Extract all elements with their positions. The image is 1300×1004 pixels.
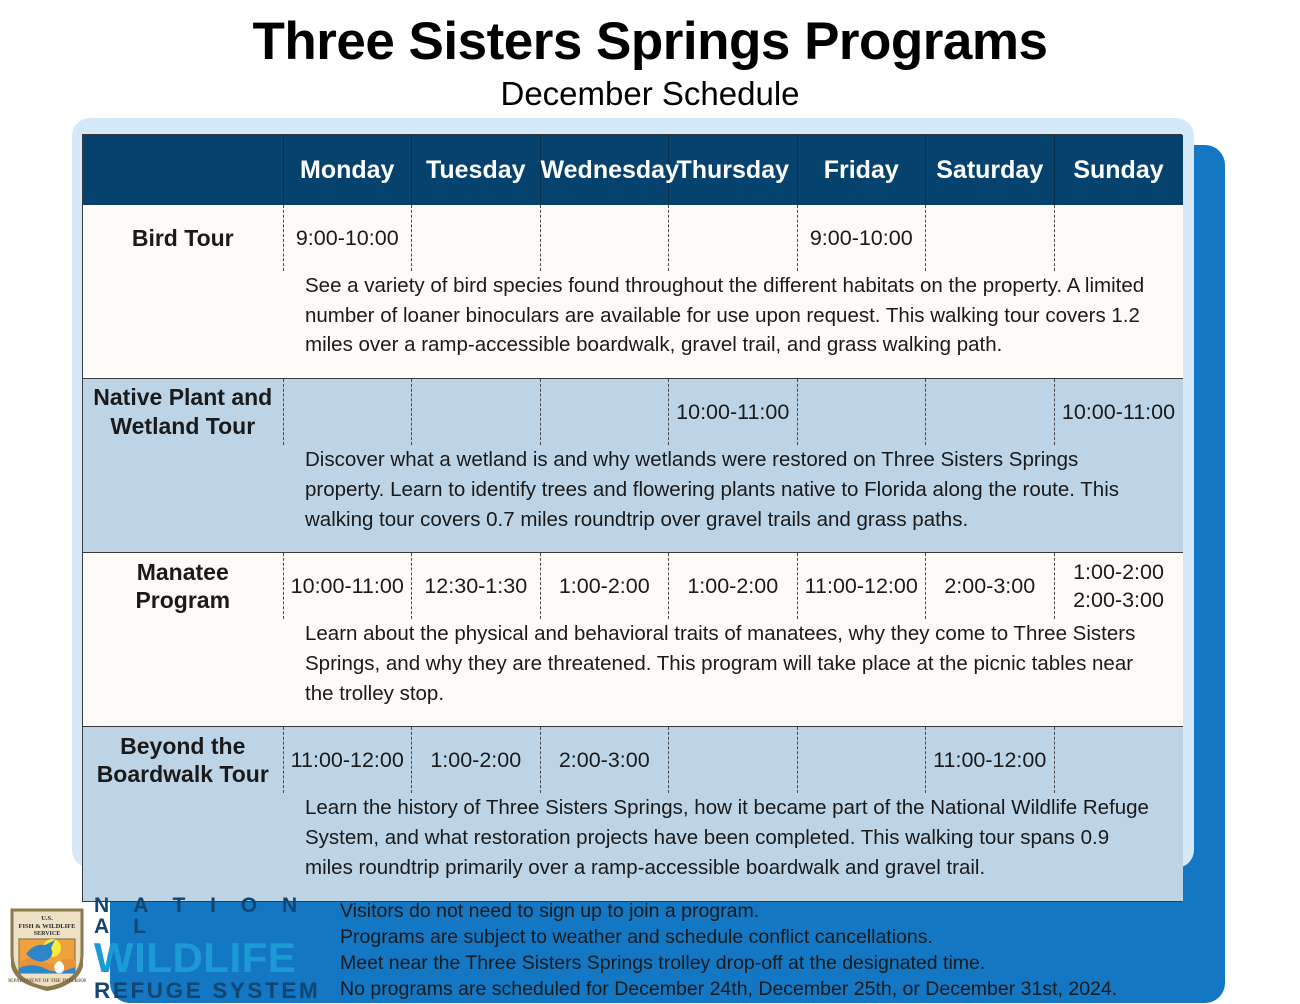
time-cell-bird-tour-wednesday — [540, 205, 669, 271]
footer: U.S. FISH & WILDLIFE SERVICE DEPARTMENT … — [0, 893, 1300, 1004]
description-spacer — [83, 445, 283, 553]
program-description-beyond-the-boardwalk-tour: Learn the history of Three Sisters Sprin… — [283, 793, 1183, 900]
time-slot: 9:00-10:00 — [798, 224, 926, 252]
day-header-wednesday: Wednesday — [540, 135, 669, 205]
corner-cell — [83, 135, 283, 205]
time-cell-native-plant-and-wetland-tour-friday — [797, 379, 926, 445]
time-cell-native-plant-and-wetland-tour-thursday[interactable]: 10:00-11:00 — [669, 379, 798, 445]
wordmark-wildlife: WILDLIFE — [94, 937, 332, 980]
program-description-native-plant-and-wetland-tour: Discover what a wetland is and why wetla… — [283, 445, 1183, 553]
time-slot: 2:00-3:00 — [926, 572, 1054, 600]
time-cell-bird-tour-tuesday — [412, 205, 541, 271]
time-cell-native-plant-and-wetland-tour-monday — [283, 379, 412, 445]
program-label-bird-tour: Bird Tour — [83, 205, 283, 271]
time-slot: 10:00-11:00 — [1055, 398, 1183, 426]
program-description-row-bird-tour: See a variety of bird species found thro… — [83, 271, 1183, 379]
schedule-table: MondayTuesdayWednesdayThursdayFridaySatu… — [83, 135, 1183, 901]
footer-note: Programs are subject to weather and sche… — [340, 925, 1117, 951]
time-cell-manatee-program-monday[interactable]: 10:00-11:00 — [283, 553, 412, 619]
time-cell-native-plant-and-wetland-tour-sunday[interactable]: 10:00-11:00 — [1054, 379, 1183, 445]
time-slot: 11:00-12:00 — [798, 572, 926, 600]
time-cell-manatee-program-thursday[interactable]: 1:00-2:00 — [669, 553, 798, 619]
description-spacer — [83, 619, 283, 727]
time-cell-bird-tour-sunday — [1054, 205, 1183, 271]
svg-text:U.S.: U.S. — [41, 915, 53, 922]
program-description-manatee-program: Learn about the physical and behavioral … — [283, 619, 1183, 727]
program-row-manatee-program: Manatee Program10:00-11:0012:30-1:301:00… — [83, 553, 1183, 619]
time-cell-beyond-the-boardwalk-tour-sunday — [1054, 727, 1183, 793]
schedule-card-stack: MondayTuesdayWednesdayThursdayFridaySatu… — [0, 118, 1300, 893]
day-header-friday: Friday — [797, 135, 926, 205]
time-slot: 11:00-12:00 — [284, 746, 412, 774]
page-subtitle: December Schedule — [0, 76, 1300, 112]
time-cell-manatee-program-saturday[interactable]: 2:00-3:00 — [926, 553, 1055, 619]
program-label-native-plant-and-wetland-tour: Native Plant and Wetland Tour — [83, 379, 283, 445]
time-slot: 1:00-2:00 — [541, 572, 669, 600]
time-cell-manatee-program-sunday[interactable]: 1:00-2:002:00-3:00 — [1054, 553, 1183, 619]
time-cell-native-plant-and-wetland-tour-tuesday — [412, 379, 541, 445]
time-slot: 12:30-1:30 — [412, 572, 540, 600]
program-description-row-native-plant-and-wetland-tour: Discover what a wetland is and why wetla… — [83, 445, 1183, 553]
time-cell-beyond-the-boardwalk-tour-friday — [797, 727, 926, 793]
time-cell-bird-tour-saturday — [926, 205, 1055, 271]
usfws-shield-icon: U.S. FISH & WILDLIFE SERVICE DEPARTMENT … — [8, 906, 86, 992]
time-cell-native-plant-and-wetland-tour-wednesday — [540, 379, 669, 445]
description-spacer — [83, 271, 283, 379]
schedule-table-container: MondayTuesdayWednesdayThursdayFridaySatu… — [82, 134, 1182, 902]
footer-note: Visitors do not need to sign up to join … — [340, 899, 1117, 925]
time-cell-beyond-the-boardwalk-tour-saturday[interactable]: 11:00-12:00 — [926, 727, 1055, 793]
footer-note: Meet near the Three Sisters Springs trol… — [340, 951, 1117, 977]
schedule-table-body: Bird Tour9:00-10:009:00-10:00See a varie… — [83, 205, 1183, 901]
program-description-bird-tour: See a variety of bird species found thro… — [283, 271, 1183, 379]
program-label-manatee-program: Manatee Program — [83, 553, 283, 619]
program-description-row-beyond-the-boardwalk-tour: Learn the history of Three Sisters Sprin… — [83, 793, 1183, 900]
time-slot: 1:00-2:00 — [669, 572, 797, 600]
time-slot: 1:00-2:00 — [412, 746, 540, 774]
svg-text:FISH & WILDLIFE: FISH & WILDLIFE — [19, 923, 76, 930]
wordmark-national: N A T I O N A L — [94, 895, 332, 937]
day-header-monday: Monday — [283, 135, 412, 205]
time-slot: 9:00-10:00 — [284, 224, 412, 252]
time-slot: 10:00-11:00 — [669, 398, 797, 426]
schedule-table-head: MondayTuesdayWednesdayThursdayFridaySatu… — [83, 135, 1183, 205]
page-title: Three Sisters Springs Programs — [0, 14, 1300, 70]
time-cell-manatee-program-wednesday[interactable]: 1:00-2:00 — [540, 553, 669, 619]
svg-text:DEPARTMENT OF THE INTERIOR: DEPARTMENT OF THE INTERIOR — [8, 979, 86, 984]
svg-text:SERVICE: SERVICE — [34, 931, 60, 937]
footer-note: No programs are scheduled for December 2… — [340, 977, 1117, 1003]
time-cell-beyond-the-boardwalk-tour-thursday — [669, 727, 798, 793]
time-slot: 2:00-3:00 — [541, 746, 669, 774]
time-cell-bird-tour-friday[interactable]: 9:00-10:00 — [797, 205, 926, 271]
time-slot: 10:00-11:00 — [284, 572, 412, 600]
program-row-native-plant-and-wetland-tour: Native Plant and Wetland Tour10:00-11:00… — [83, 379, 1183, 445]
time-slot: 11:00-12:00 — [926, 746, 1054, 774]
day-header-sunday: Sunday — [1054, 135, 1183, 205]
time-cell-bird-tour-thursday — [669, 205, 798, 271]
time-cell-manatee-program-friday[interactable]: 11:00-12:00 — [797, 553, 926, 619]
title-block: Three Sisters Springs Programs December … — [0, 0, 1300, 112]
time-cell-beyond-the-boardwalk-tour-monday[interactable]: 11:00-12:00 — [283, 727, 412, 793]
program-description-row-manatee-program: Learn about the physical and behavioral … — [83, 619, 1183, 727]
nwrs-wordmark: N A T I O N A L WILDLIFE REFUGE SYSTEM — [94, 895, 332, 1002]
time-cell-beyond-the-boardwalk-tour-wednesday[interactable]: 2:00-3:00 — [540, 727, 669, 793]
program-row-beyond-the-boardwalk-tour: Beyond the Boardwalk Tour11:00-12:001:00… — [83, 727, 1183, 793]
time-cell-bird-tour-monday[interactable]: 9:00-10:00 — [283, 205, 412, 271]
time-cell-beyond-the-boardwalk-tour-tuesday[interactable]: 1:00-2:00 — [412, 727, 541, 793]
time-slot: 1:00-2:00 — [1055, 558, 1183, 586]
day-header-saturday: Saturday — [926, 135, 1055, 205]
day-header-row: MondayTuesdayWednesdayThursdayFridaySatu… — [83, 135, 1183, 205]
wordmark-refuge-system: REFUGE SYSTEM — [94, 980, 332, 1003]
footer-notes: Visitors do not need to sign up to join … — [332, 893, 1117, 1003]
time-cell-manatee-program-tuesday[interactable]: 12:30-1:30 — [412, 553, 541, 619]
program-label-beyond-the-boardwalk-tour: Beyond the Boardwalk Tour — [83, 727, 283, 793]
nwrs-logo: U.S. FISH & WILDLIFE SERVICE DEPARTMENT … — [0, 893, 332, 1004]
time-slot: 2:00-3:00 — [1055, 586, 1183, 614]
time-cell-native-plant-and-wetland-tour-saturday — [926, 379, 1055, 445]
day-header-thursday: Thursday — [669, 135, 798, 205]
program-row-bird-tour: Bird Tour9:00-10:009:00-10:00 — [83, 205, 1183, 271]
day-header-tuesday: Tuesday — [412, 135, 541, 205]
description-spacer — [83, 793, 283, 900]
